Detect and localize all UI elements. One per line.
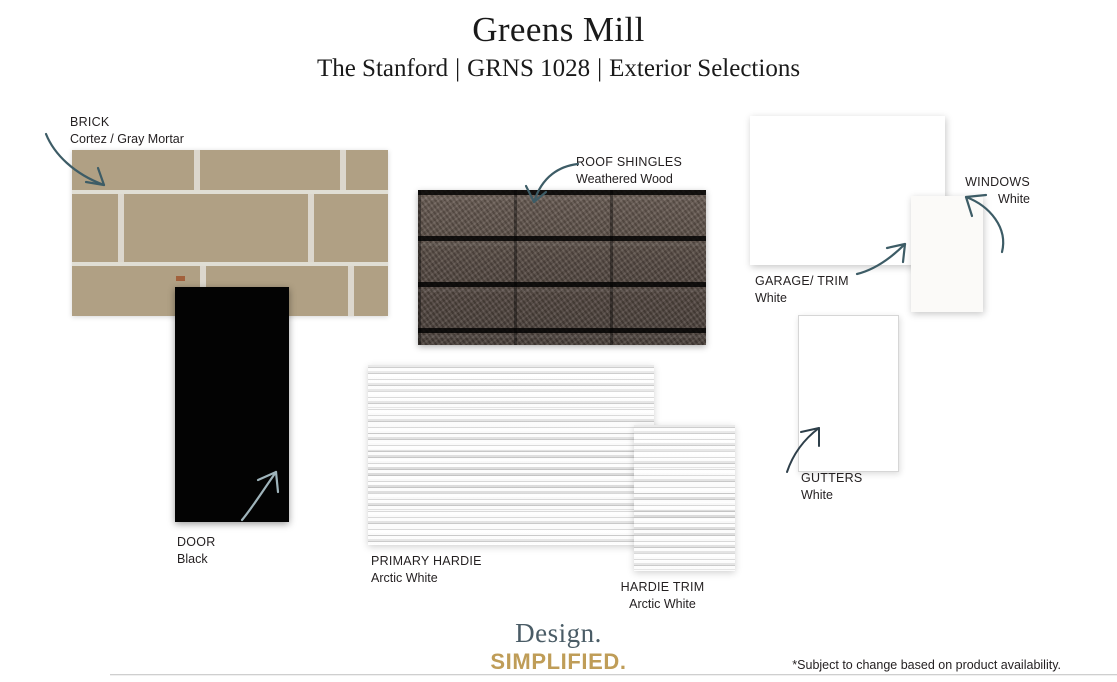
swatch-gutters (798, 315, 899, 472)
label-primary-hardie-caption: PRIMARY HARDIE (371, 553, 482, 570)
label-garage-trim-value: White (755, 290, 849, 307)
subtitle-separator-2: | (590, 55, 609, 82)
footer-divider (110, 674, 1117, 676)
swatch-door (175, 287, 289, 522)
page-title: Greens Mill (0, 8, 1117, 52)
swatch-hardie-trim (634, 425, 735, 571)
footer-disclaimer: *Subject to change based on product avai… (792, 658, 1061, 672)
swatch-primary-hardie (368, 365, 654, 545)
subtitle-lot-number: GRNS 1028 (467, 55, 590, 82)
label-primary-hardie: PRIMARY HARDIE Arctic White (371, 553, 482, 586)
label-garage-trim-caption: GARAGE/ TRIM (755, 273, 849, 290)
label-door: DOOR Black (177, 534, 216, 567)
label-brick-caption: BRICK (70, 114, 184, 131)
label-windows-value: White (902, 191, 1030, 208)
label-brick-value: Cortez / Gray Mortar (70, 131, 184, 148)
brand-logo-line1: Design. (0, 620, 1117, 647)
label-hardie-trim: HARDIE TRIM Arctic White (590, 579, 735, 612)
swatch-windows (911, 196, 983, 312)
subtitle-plan: The Stanford (317, 55, 448, 82)
label-door-value: Black (177, 551, 216, 568)
page-header: Greens Mill The Stanford|GRNS 1028|Exter… (0, 8, 1117, 86)
label-roof-shingles-caption: ROOF SHINGLES (576, 154, 682, 171)
label-gutters-caption: GUTTERS (801, 470, 862, 487)
label-door-caption: DOOR (177, 534, 216, 551)
label-roof-shingles: ROOF SHINGLES Weathered Wood (576, 154, 682, 187)
label-gutters: GUTTERS White (801, 470, 862, 503)
subtitle-category: Exterior Selections (609, 55, 800, 82)
label-hardie-trim-caption: HARDIE TRIM (590, 579, 735, 596)
label-roof-shingles-value: Weathered Wood (576, 171, 682, 188)
label-windows-caption: WINDOWS (902, 174, 1030, 191)
label-brick: BRICK Cortez / Gray Mortar (70, 114, 184, 147)
label-hardie-trim-value: Arctic White (590, 596, 735, 613)
subtitle-separator-1: | (448, 55, 467, 82)
page-subtitle: The Stanford|GRNS 1028|Exterior Selectio… (0, 52, 1117, 86)
swatch-roof-shingles (418, 190, 706, 345)
label-windows: WINDOWS White (902, 174, 1030, 207)
label-gutters-value: White (801, 487, 862, 504)
label-primary-hardie-value: Arctic White (371, 570, 482, 587)
label-garage-trim: GARAGE/ TRIM White (755, 273, 849, 306)
